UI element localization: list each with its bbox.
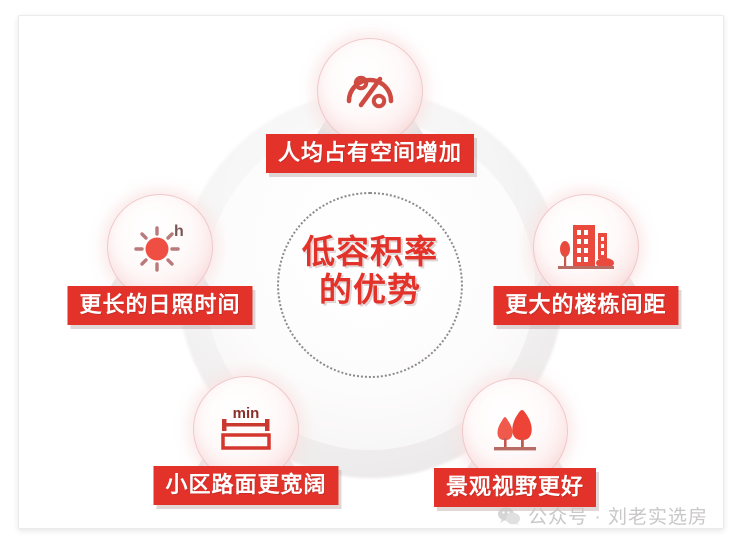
center-title: 低容积率 的优势 — [260, 233, 480, 309]
node-label-banner[interactable]: 小区路面更宽阔 — [153, 466, 338, 505]
percent-icon — [341, 65, 399, 117]
node-label-banner[interactable]: 更长的日照时间 — [67, 286, 252, 325]
watermark: 公众号 · 刘老实选房 — [497, 502, 708, 529]
trees-icon — [484, 404, 546, 458]
node-label-banner[interactable]: 人均占有空间增加 — [266, 134, 474, 173]
buildings-icon — [555, 219, 617, 275]
node-icon-bubble — [317, 38, 423, 144]
sun-hours-icon: h — [130, 219, 190, 275]
min-width-icon: min — [215, 401, 277, 457]
wechat-icon — [497, 506, 521, 526]
svg-text:min: min — [233, 405, 260, 422]
node-icon-bubble — [533, 194, 639, 300]
node-label-banner[interactable]: 更大的楼栋间距 — [493, 286, 678, 325]
center-title-line2: 的优势 — [260, 271, 480, 309]
center-title-line1: 低容积率 — [302, 233, 438, 270]
watermark-text: 公众号 · 刘老实选房 — [528, 502, 708, 529]
infographic-canvas: 低容积率 的优势 人均占有空间增加 — [0, 0, 740, 547]
node-icon-bubble: h — [107, 194, 213, 300]
svg-text:h: h — [174, 223, 184, 240]
